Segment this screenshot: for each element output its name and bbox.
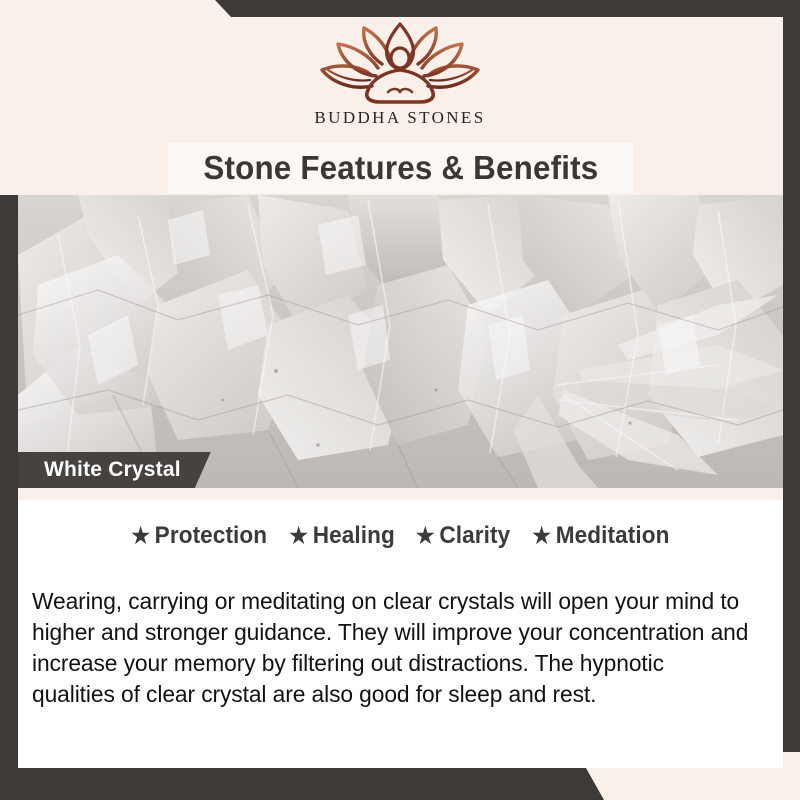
photo-caption-tag: White Crystal [18,452,211,488]
frame-band-bottom [0,768,800,800]
benefit-item-protection: ★Protection [132,522,268,550]
star-icon: ★ [132,523,151,548]
benefit-item-clarity: ★Clarity [416,522,510,550]
content-area: ★Protection ★Healing ★Clarity ★Meditatio… [18,488,783,768]
photo-caption-label: White Crystal [44,458,181,482]
benefit-label-protection: Protection [155,522,268,549]
title-banner: Stone Features & Benefits [168,143,633,193]
benefit-label-meditation: Meditation [555,522,669,549]
benefit-label-healing: Healing [313,522,395,549]
star-icon: ★ [416,523,435,548]
benefit-label-clarity: Clarity [439,522,510,549]
description-paragraph: Wearing, carrying or meditating on clear… [32,586,750,711]
star-icon: ★ [290,523,309,548]
benefit-item-meditation: ★Meditation [532,522,669,550]
lotus-meditation-figure-icon [314,20,486,104]
benefit-item-healing: ★Healing [290,522,395,550]
benefits-row: ★Protection ★Healing ★Clarity ★Meditatio… [18,522,783,550]
brand-logo: BUDDHA STONES [0,20,800,126]
frame-band-left [0,195,18,800]
content-card: ★Protection ★Healing ★Clarity ★Meditatio… [18,500,783,768]
header: BUDDHA STONES Stone Features & Benefits [0,0,800,195]
page-title: Stone Features & Benefits [203,149,598,187]
brand-name: BUDDHA STONES [0,109,800,126]
poster-root: BUDDHA STONES Stone Features & Benefits [0,0,800,800]
white-crystal-cluster-photo [18,195,783,488]
star-icon: ★ [532,523,551,548]
